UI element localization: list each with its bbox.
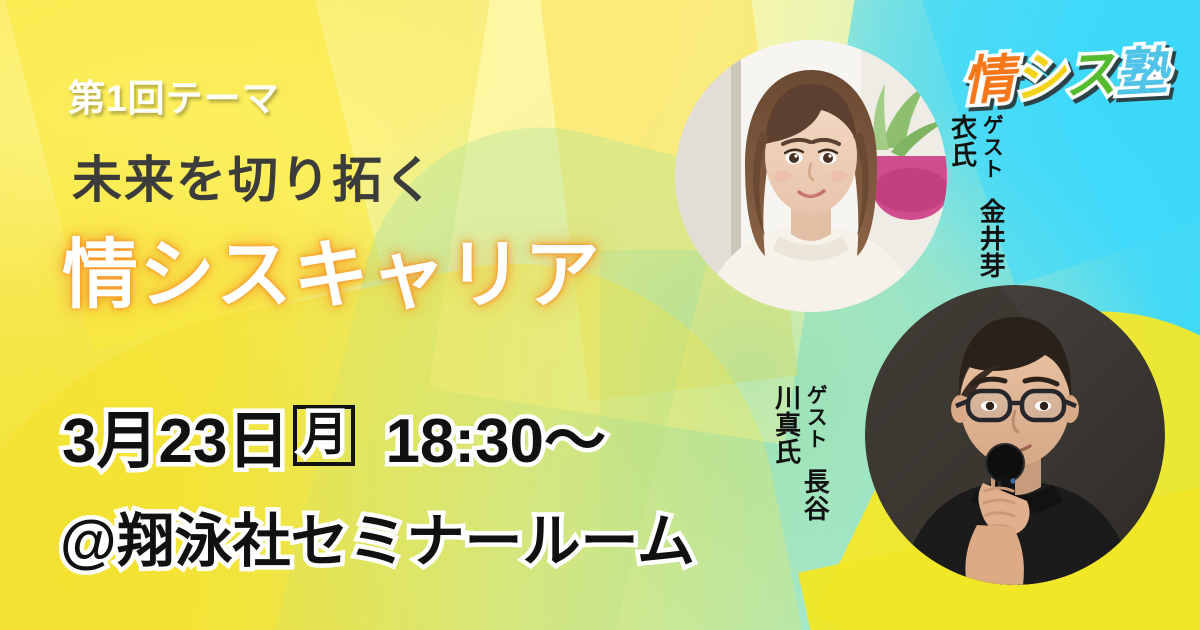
brand-logo: 情 シ ス 塾	[960, 29, 1168, 115]
logo-char-3: ス	[1062, 31, 1117, 109]
logo-char-4: 塾	[1113, 29, 1168, 107]
theme-subtitle: 未来を切り拓く	[72, 140, 436, 212]
event-venue: @翔泳社セミナールーム	[60, 494, 695, 578]
guest-caption-kanai: ゲスト 金井芽衣氏	[948, 114, 1005, 294]
page-title: 情シスキャリア	[62, 213, 601, 323]
event-date-time: 3月23日 月 18:30〜	[62, 390, 606, 480]
event-date: 3月23日	[62, 390, 289, 480]
guest-photo-hasegawa	[865, 285, 1165, 585]
guest-role-label-1: ゲスト	[980, 114, 1003, 180]
poster-text-column: 第1回テーマ 未来を切り拓く 情シスキャリア 3月23日 月 18:30〜 @翔…	[0, 0, 720, 630]
theme-kicker: 第1回テーマ	[68, 68, 280, 122]
event-time: 18:30〜	[385, 390, 606, 480]
logo-char-1: 情	[960, 37, 1015, 115]
guest-caption-hasegawa: ゲスト 長谷川真氏	[772, 384, 829, 534]
event-weekday-badge: 月	[293, 405, 355, 466]
event-poster: 情 シ ス 塾	[0, 0, 1200, 630]
man-with-microphone-illustration	[865, 285, 1165, 585]
guest-role-label-2: ゲスト	[804, 384, 827, 450]
logo-char-2: シ	[1011, 34, 1066, 112]
